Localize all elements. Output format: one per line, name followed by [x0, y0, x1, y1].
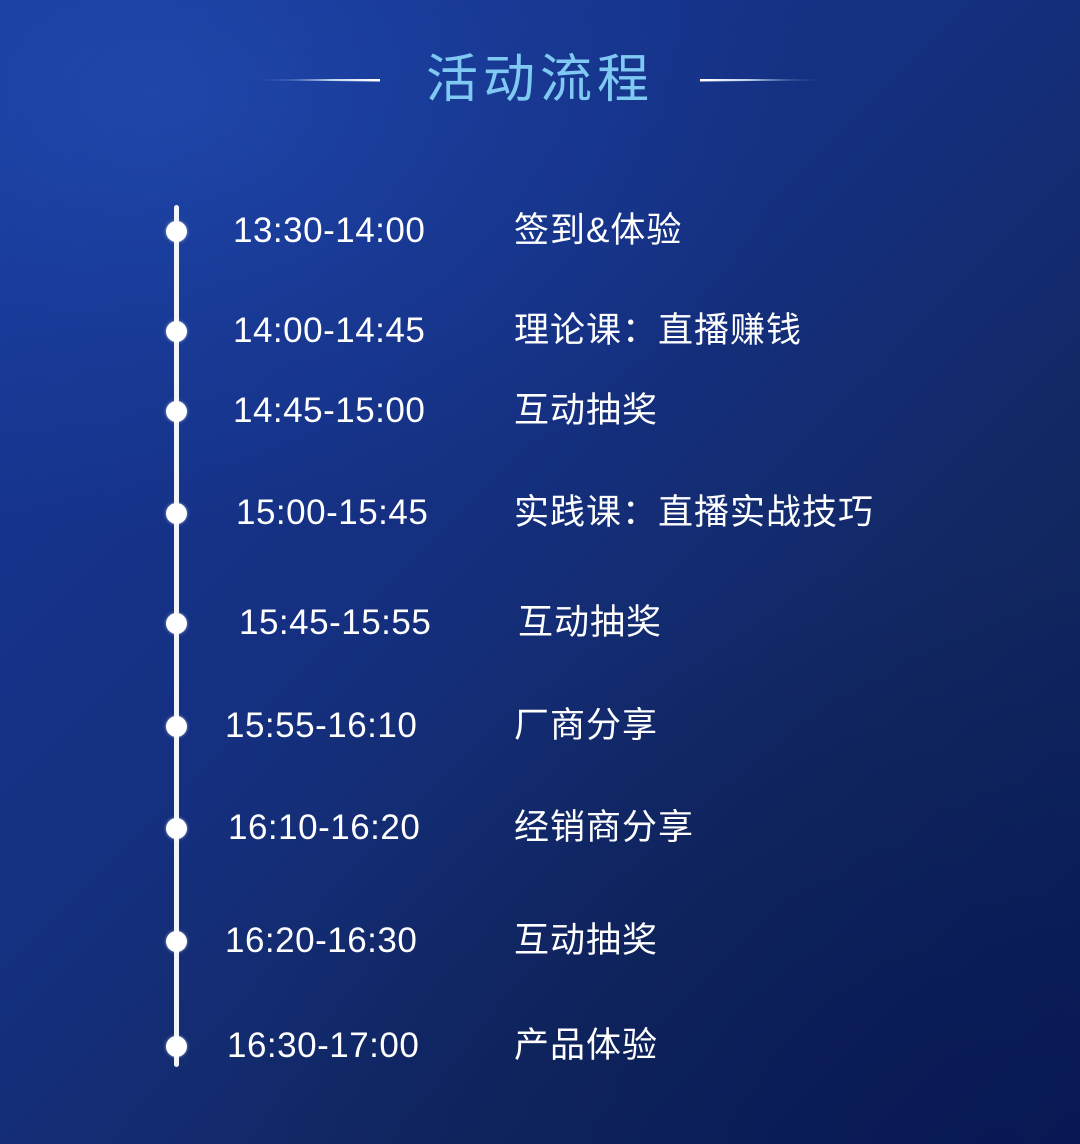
timeline-dot-icon — [166, 716, 187, 737]
timeline-row-label: 理论课：直播赚钱 — [514, 307, 802, 355]
timeline-row-time: 15:55-16:10 — [225, 702, 417, 750]
timeline-dot-icon — [166, 401, 187, 422]
timeline-row: 16:20-16:30 互动抽奖 — [0, 917, 1080, 965]
timeline-rows: 13:30-14:00 签到&体验 14:00-14:45 理论课：直播赚钱 1… — [0, 196, 1080, 1086]
title-rule-left-icon — [256, 77, 380, 84]
timeline-row-time: 15:45-15:55 — [239, 599, 431, 647]
timeline-row: 14:00-14:45 理论课：直播赚钱 — [0, 307, 1080, 355]
timeline-dot-icon — [166, 931, 187, 952]
timeline-row-time: 14:45-15:00 — [233, 387, 425, 435]
timeline-dot-icon — [166, 613, 187, 634]
timeline-row: 13:30-14:00 签到&体验 — [0, 207, 1080, 255]
timeline-row: 15:00-15:45 实践课：直播实战技巧 — [0, 489, 1080, 537]
timeline-row-label: 厂商分享 — [514, 702, 658, 750]
timeline-dot-icon — [166, 321, 187, 342]
timeline-row: 15:55-16:10 厂商分享 — [0, 702, 1080, 750]
timeline-row-label: 互动抽奖 — [514, 387, 658, 435]
timeline-row-label: 互动抽奖 — [518, 599, 662, 647]
timeline-dot-icon — [166, 503, 187, 524]
page-title: 活动流程 — [426, 54, 654, 106]
timeline-row-time: 16:30-17:00 — [227, 1022, 419, 1070]
timeline-row-label: 签到&体验 — [514, 207, 682, 255]
event-schedule-poster: 活动流程 13:30-14:00 签到&体验 14:00-14:45 理论课：直… — [0, 0, 1080, 1144]
timeline-dot-icon — [166, 818, 187, 839]
timeline-row: 14:45-15:00 互动抽奖 — [0, 387, 1080, 435]
timeline-row: 15:45-15:55 互动抽奖 — [0, 599, 1080, 647]
timeline-row: 16:30-17:00 产品体验 — [0, 1022, 1080, 1070]
poster-header: 活动流程 — [0, 38, 1080, 122]
timeline-row: 16:10-16:20 经销商分享 — [0, 804, 1080, 852]
timeline-row-label: 实践课：直播实战技巧 — [514, 489, 874, 537]
timeline-row-time: 15:00-15:45 — [236, 489, 428, 537]
timeline-row-time: 16:10-16:20 — [228, 804, 420, 852]
title-rule-right-icon — [700, 77, 824, 84]
schedule-timeline: 13:30-14:00 签到&体验 14:00-14:45 理论课：直播赚钱 1… — [0, 196, 1080, 1086]
timeline-row-label: 互动抽奖 — [514, 917, 658, 965]
timeline-row-time: 13:30-14:00 — [233, 207, 425, 255]
timeline-row-label: 产品体验 — [514, 1022, 658, 1070]
timeline-dot-icon — [166, 221, 187, 242]
timeline-row-time: 14:00-14:45 — [233, 307, 425, 355]
timeline-dot-icon — [166, 1036, 187, 1057]
timeline-row-time: 16:20-16:30 — [225, 917, 417, 965]
timeline-row-label: 经销商分享 — [514, 804, 694, 852]
